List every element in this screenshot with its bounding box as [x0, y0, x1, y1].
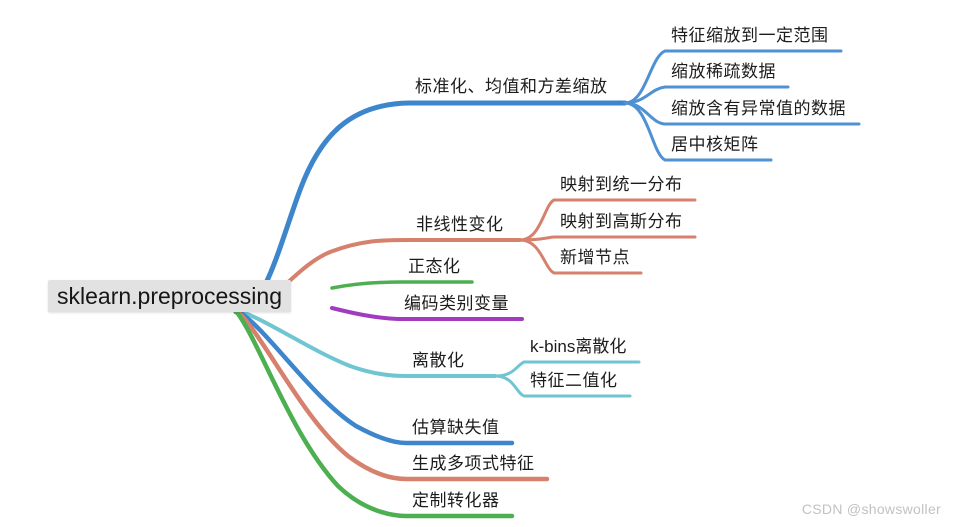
node-sparse-data-scaling[interactable]: 缩放稀疏数据 — [671, 63, 776, 80]
node-outlier-data-scaling[interactable]: 缩放含有异常值的数据 — [671, 100, 846, 117]
branch-line-normalization — [332, 282, 472, 288]
node-kbins-discretization[interactable]: k-bins离散化 — [530, 338, 626, 355]
root-node-label: sklearn.preprocessing — [57, 283, 282, 310]
node-add-new-node[interactable]: 新增节点 — [560, 249, 630, 266]
node-polynomial-features[interactable]: 生成多项式特征 — [412, 455, 535, 472]
node-discretization[interactable]: 离散化 — [412, 352, 465, 369]
node-categorical-encoding[interactable]: 编码类别变量 — [404, 295, 509, 312]
node-normalization[interactable]: 正态化 — [408, 258, 461, 275]
mindmap-canvas: sklearn.preprocessing 标准化、均值和方差缩放 非线性变化 … — [0, 0, 955, 527]
branch-line-nonlinear-child-1 — [520, 237, 695, 240]
watermark-text: CSDN @showswoller — [802, 501, 941, 517]
node-impute-missing[interactable]: 估算缺失值 — [412, 419, 500, 436]
node-feature-range-scaling[interactable]: 特征缩放到一定范围 — [671, 27, 829, 44]
node-custom-transformer[interactable]: 定制转化器 — [412, 492, 500, 509]
node-feature-binarization[interactable]: 特征二值化 — [530, 372, 618, 389]
node-gaussian-mapping[interactable]: 映射到高斯分布 — [560, 213, 683, 230]
node-standardization[interactable]: 标准化、均值和方差缩放 — [415, 78, 608, 95]
node-uniform-mapping[interactable]: 映射到统一分布 — [560, 176, 683, 193]
branch-line-custom-transformer — [236, 311, 512, 516]
node-kernel-centering[interactable]: 居中核矩阵 — [671, 136, 759, 153]
root-node[interactable]: sklearn.preprocessing — [48, 280, 291, 312]
node-nonlinear[interactable]: 非线性变化 — [416, 216, 504, 233]
